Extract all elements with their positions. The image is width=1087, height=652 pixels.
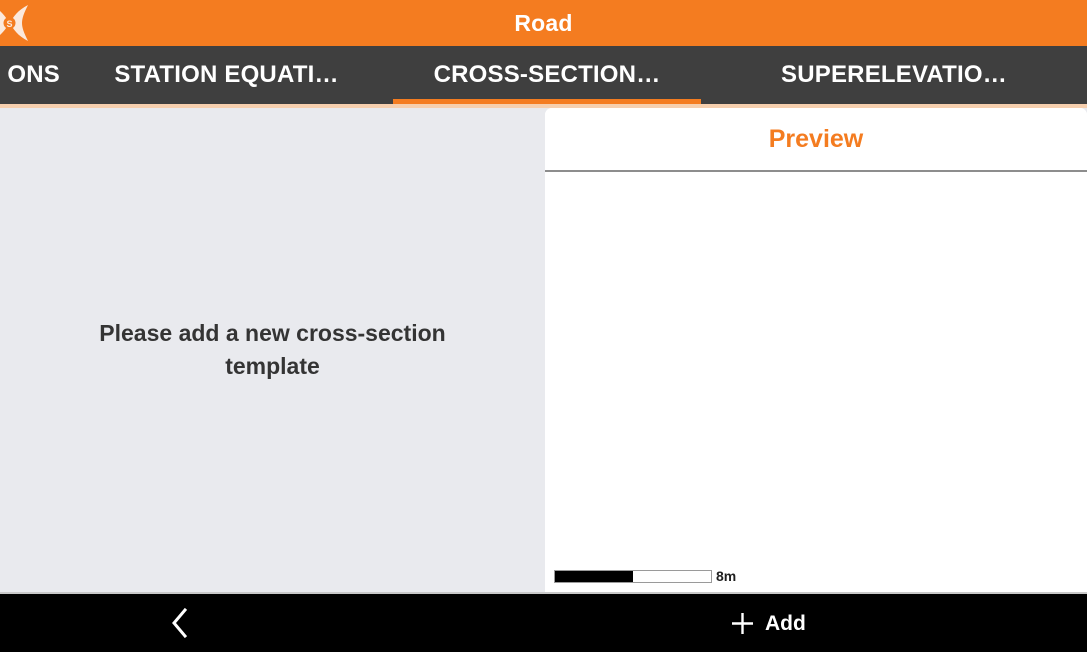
cross-section-list-pane: Please add a new cross-section template <box>0 108 545 592</box>
plus-icon <box>730 611 755 636</box>
add-button[interactable]: Add <box>730 594 806 652</box>
tab-superelevation[interactable]: SUPERELEVATIO… <box>701 46 1087 104</box>
scale-bar-segment-empty <box>633 571 711 582</box>
svg-text:S: S <box>6 19 12 29</box>
back-button[interactable] <box>148 594 212 652</box>
scale-bar: 8m <box>554 569 736 583</box>
tab-label: STATION EQUATI… <box>114 63 338 87</box>
tab-cross-sections[interactable]: CROSS-SECTION… <box>393 46 701 104</box>
preview-canvas[interactable]: 8m <box>545 172 1087 592</box>
tab-label: CROSS-SECTION… <box>434 63 661 87</box>
add-button-label: Add <box>765 613 806 634</box>
title-bar: S Road <box>0 0 1087 46</box>
window-title: Road <box>514 12 572 35</box>
tab-bar: ONS STATION EQUATI… CROSS-SECTION… SUPER… <box>0 46 1087 104</box>
bottom-bar: Add <box>0 594 1087 652</box>
preview-header: Preview <box>545 108 1087 170</box>
tab-label: SUPERELEVATIO… <box>781 63 1007 87</box>
preview-title: Preview <box>769 127 864 152</box>
empty-state-message: Please add a new cross-section template <box>58 317 488 384</box>
content-area: Please add a new cross-section template … <box>0 108 1087 592</box>
preview-panel: Preview 8m <box>545 108 1087 592</box>
scale-bar-label: 8m <box>716 569 736 583</box>
scale-bar-segment-filled <box>555 571 633 582</box>
tab-label: ONS <box>7 63 60 87</box>
tab-station-equations[interactable]: STATION EQUATI… <box>60 46 393 104</box>
tab-alignments[interactable]: ONS <box>0 46 60 104</box>
tab-underline <box>393 99 701 104</box>
scale-bar-graphic <box>554 570 712 583</box>
road-app-window: S Road ONS STATION EQUATI… CROSS-SECTION… <box>0 0 1087 652</box>
x-logo-icon: S <box>0 4 31 42</box>
chevron-left-icon <box>171 608 189 638</box>
